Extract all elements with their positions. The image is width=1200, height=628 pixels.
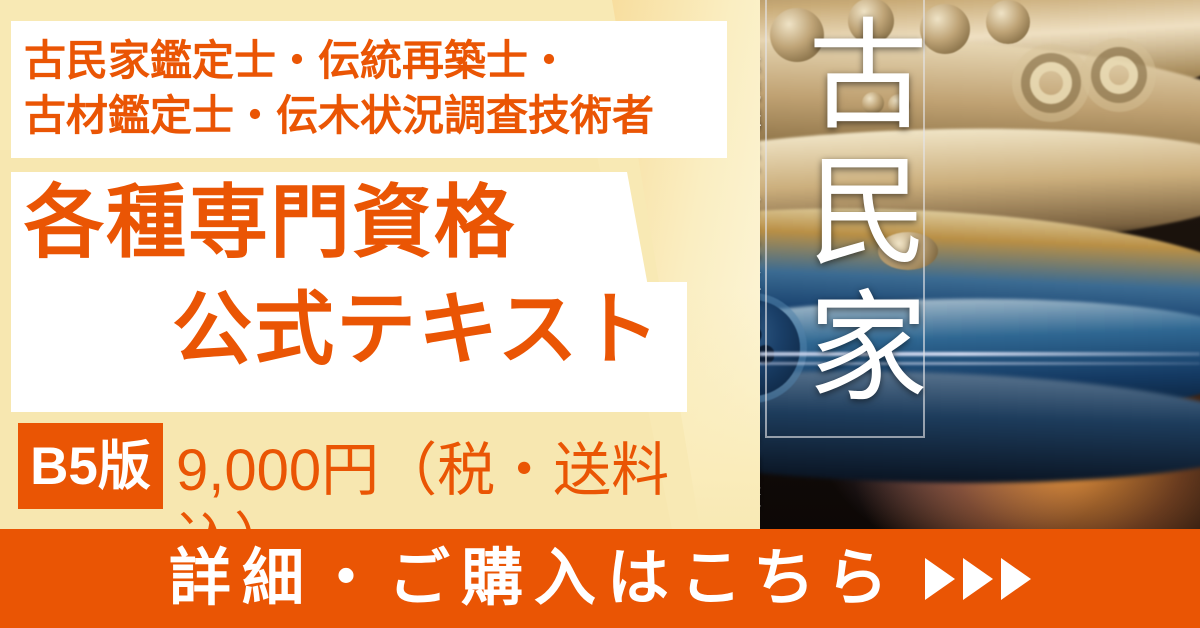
credentials-text: 古民家鑑定士・伝統再築士・ 古材鑑定士・伝木状況調査技術者 (24, 33, 654, 144)
cta-arrows (925, 558, 1031, 600)
carving-knob (986, 0, 1030, 44)
headline-line-1: 各種専門資格 (24, 183, 516, 263)
size-badge: B5版 (18, 423, 163, 509)
play-arrow-icon (925, 558, 955, 600)
play-arrow-icon (1001, 558, 1031, 600)
price-row: B5版 9,000円（税・送料込） (0, 416, 700, 529)
cover-title-text: 古民家 (776, 12, 916, 420)
carving-spiral (1030, 62, 1072, 104)
credentials-panel: 古民家鑑定士・伝統再築士・ 古材鑑定士・伝木状況調査技術者 (11, 21, 727, 158)
promo-banner: 古民家 伝統構法、古民家活用のための調査と再生の 古民家鑑定士・伝統再築士・ 古… (0, 0, 1200, 628)
headline-line-2: 公式テキスト (172, 290, 662, 370)
cta-button[interactable]: 詳細・ご購入はこちら (0, 529, 1200, 628)
play-arrow-icon (963, 558, 993, 600)
carving-knob (920, 4, 970, 54)
size-badge-label: B5版 (30, 440, 151, 493)
carving-spiral (1100, 56, 1138, 94)
cta-label: 詳細・ご購入はこちら (169, 548, 899, 610)
